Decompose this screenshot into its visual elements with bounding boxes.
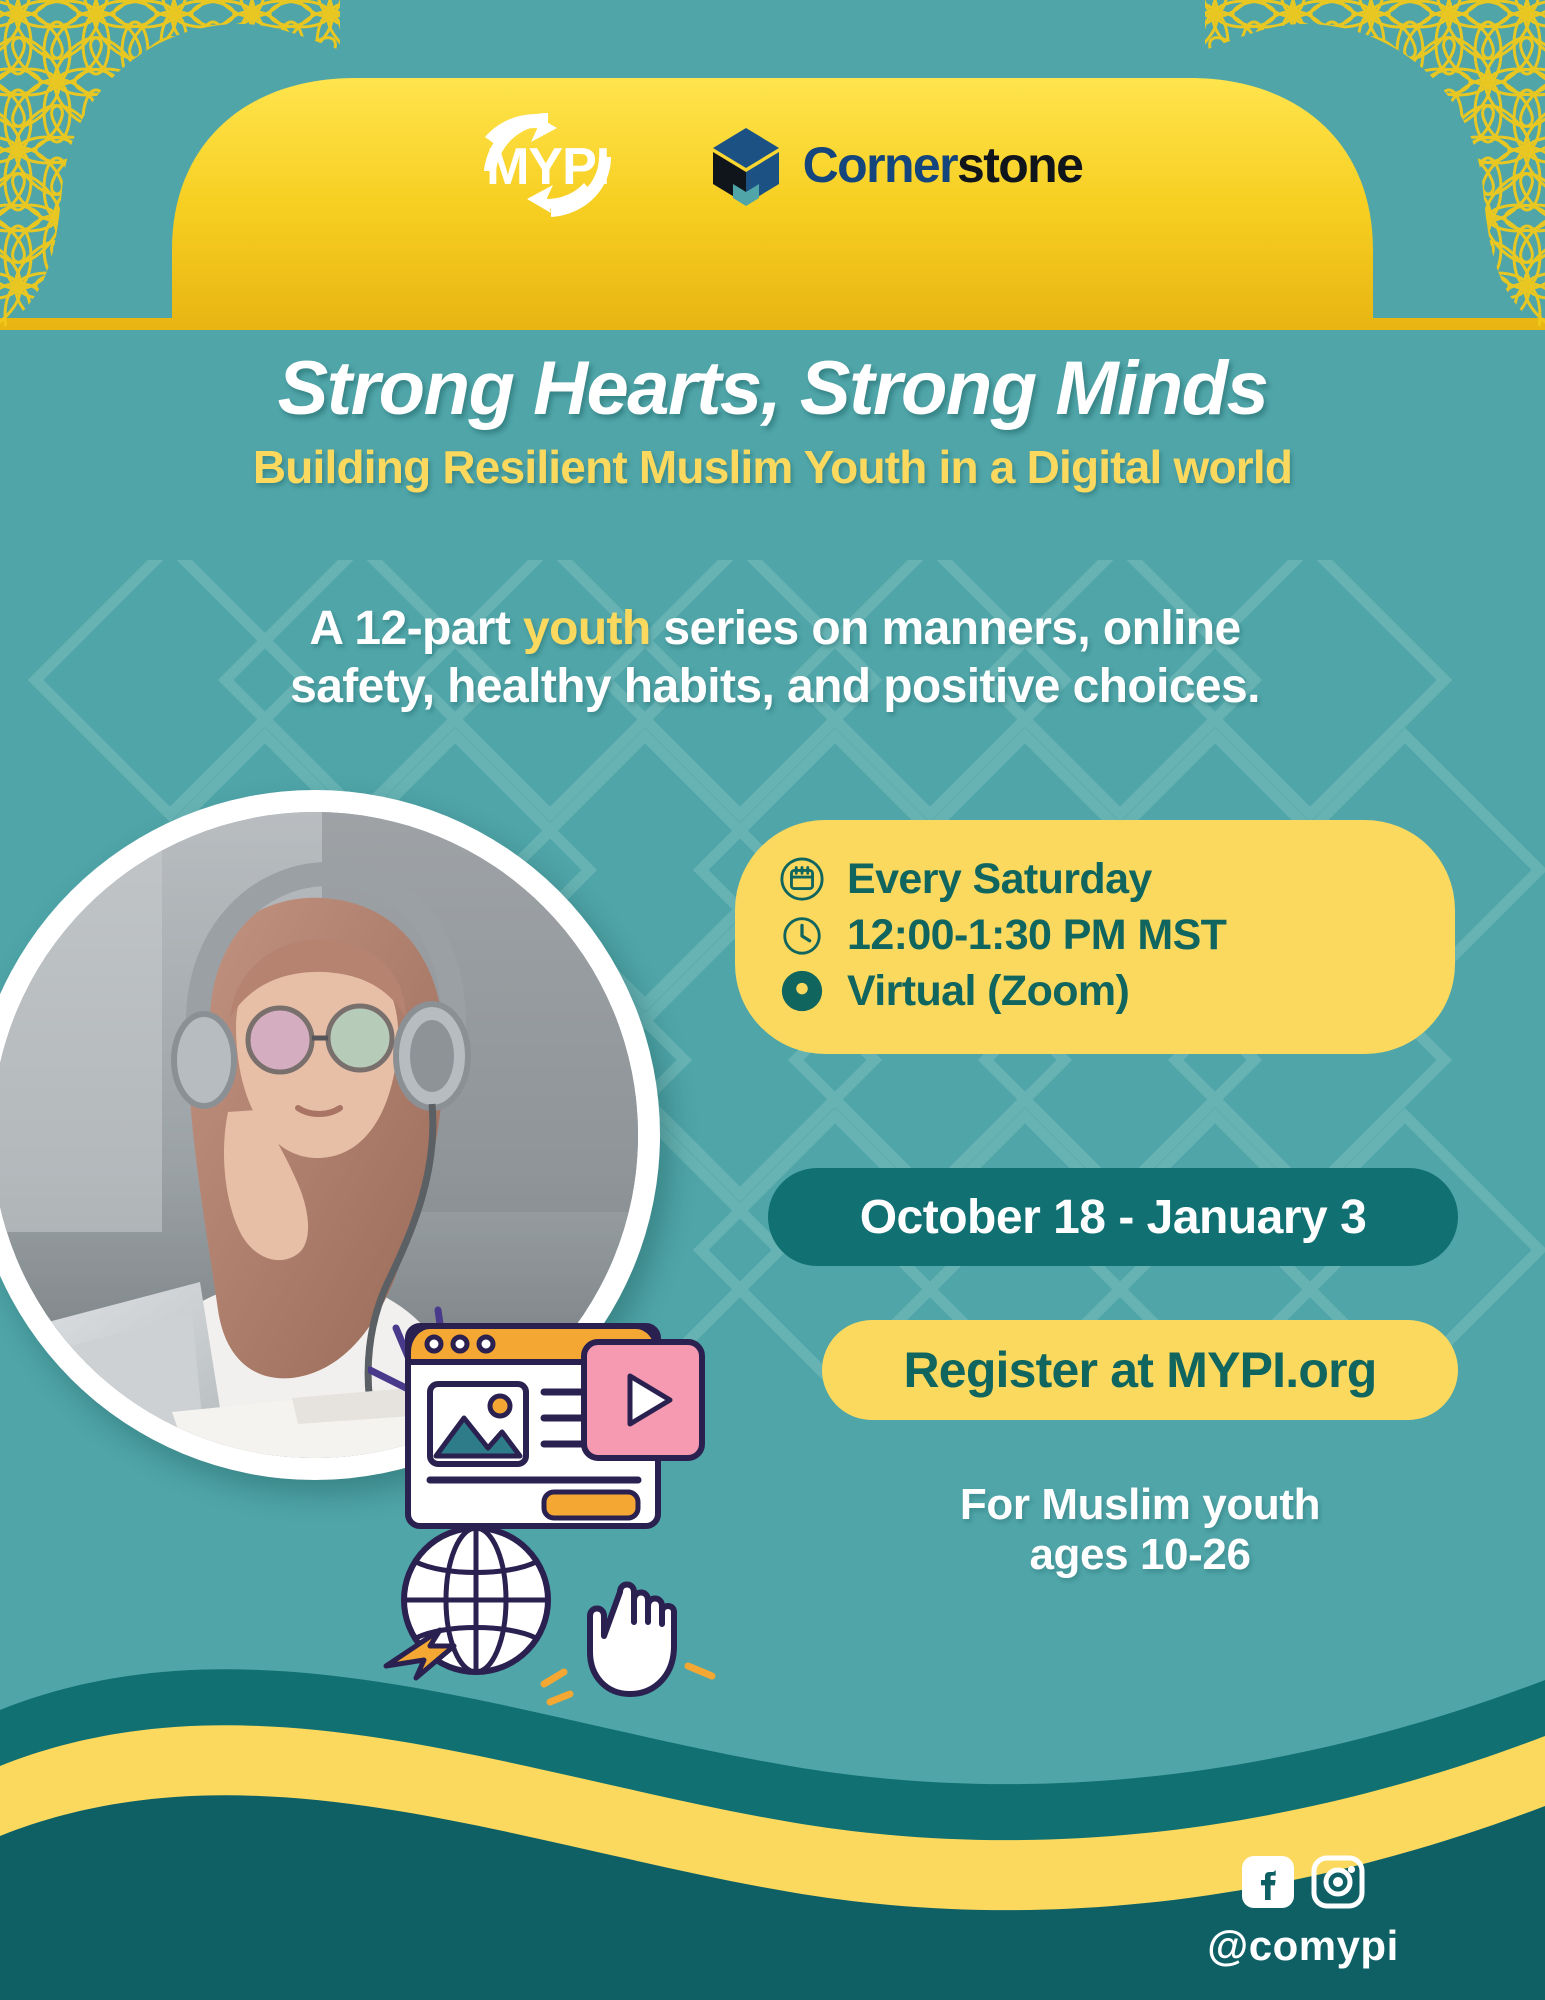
description-highlight: youth [523, 602, 651, 655]
social-block: @comypi [1133, 1854, 1473, 1970]
dates-badge: October 18 - January 3 [768, 1168, 1458, 1266]
social-icon-row [1133, 1854, 1473, 1910]
cornerstone-logo: Cornerstone [703, 122, 1083, 208]
description-line2: safety, healthy habits, and positive cho… [290, 660, 1260, 713]
location-pin-icon [779, 968, 825, 1014]
schedule-time-text: 12:00-1:30 PM MST [847, 914, 1226, 957]
mypi-wordmark: MYPI [486, 141, 609, 193]
description-line1-after: series on manners, online [651, 602, 1241, 655]
mypi-logo: MYPI [463, 111, 633, 219]
clock-icon [779, 912, 825, 958]
social-handle: @comypi [1133, 1922, 1473, 1970]
schedule-info-card: Every Saturday 12:00-1:30 PM MST Virtual… [735, 820, 1455, 1054]
headline-block: Strong Hearts, Strong Minds Building Res… [0, 350, 1545, 494]
schedule-row-time: 12:00-1:30 PM MST [779, 912, 1415, 958]
logo-row: MYPI Cornerstone [0, 110, 1545, 220]
facebook-icon[interactable] [1240, 1854, 1296, 1910]
schedule-location-text: Virtual (Zoom) [847, 970, 1129, 1013]
poster-canvas: MYPI Cornerstone Strong Hearts, Strong M… [0, 0, 1545, 2000]
calendar-icon [779, 856, 825, 902]
schedule-row-location: Virtual (Zoom) [779, 968, 1415, 1014]
instagram-icon[interactable] [1310, 1854, 1366, 1910]
schedule-date-text: Every Saturday [847, 858, 1152, 901]
cornerstone-word-part1: Corner [803, 137, 957, 193]
audience-note: For Muslim youth ages 10-26 [820, 1480, 1460, 1580]
poster-description: A 12-part youth series on manners, onlin… [90, 600, 1460, 715]
cornerstone-word-part2: stone [957, 137, 1082, 193]
cornerstone-wordmark: Cornerstone [803, 140, 1083, 190]
register-button[interactable]: Register at MYPI.org [822, 1320, 1458, 1420]
cornerstone-cube-icon [703, 122, 789, 208]
schedule-row-date: Every Saturday [779, 856, 1415, 902]
poster-subtitle: Building Resilient Muslim Youth in a Dig… [0, 442, 1545, 494]
poster-title: Strong Hearts, Strong Minds [0, 350, 1545, 428]
description-line1-before: A 12-part [309, 602, 523, 655]
audience-line1: For Muslim youth [960, 1480, 1320, 1529]
